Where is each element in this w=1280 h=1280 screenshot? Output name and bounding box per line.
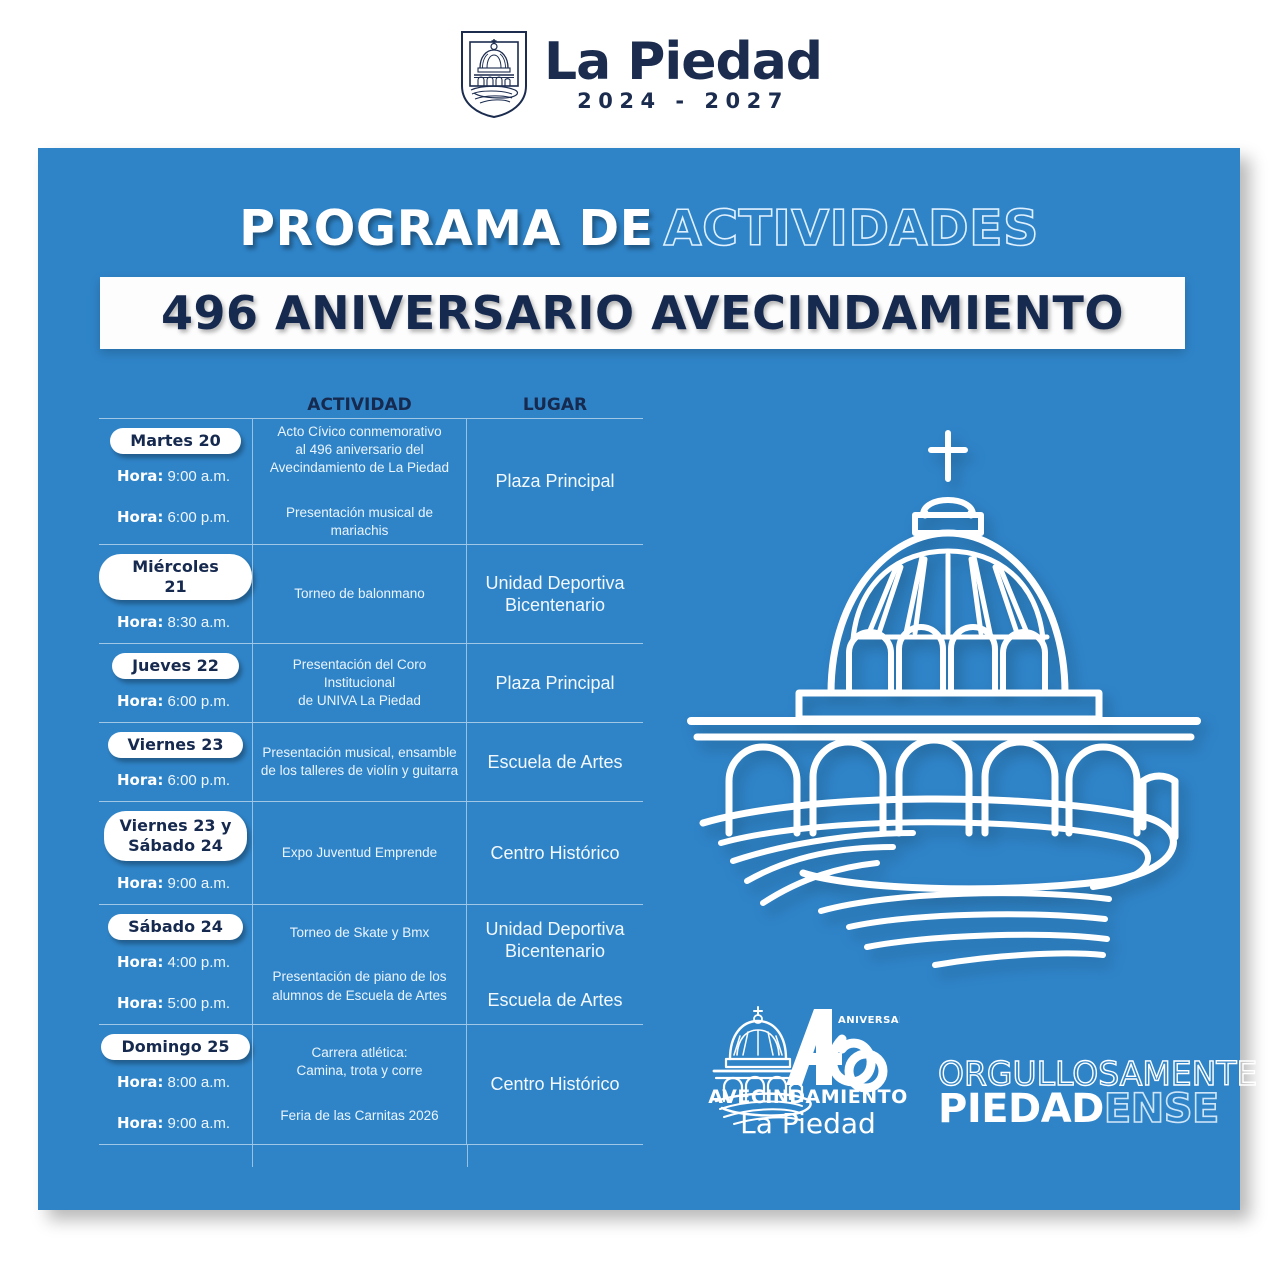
basilica-dome-bridge-icon [663,403,1223,1003]
place-text: Unidad Deportiva Bicentenario [471,572,639,617]
column-divider-1 [252,1145,253,1167]
time-value: Hora: 6:00 p.m. [117,771,252,789]
time-label: Hora: [117,692,163,710]
cell-day: Viernes 23Hora: 6:00 p.m. [99,723,252,801]
brand-text-block: La Piedad 2024 - 2027 [544,36,822,112]
table-column-tails [99,1145,643,1167]
cell-place: Plaza Principal [467,419,643,544]
activity-text: Presentación musical, ensamble de los ta… [259,744,460,780]
time-value: Hora: 9:00 a.m. [117,874,252,892]
cell-place: Centro Histórico [467,802,643,904]
cell-activity: Presentación musical, ensamble de los ta… [252,723,467,801]
table-row: Sábado 24Hora: 4:00 p.m.Hora: 5:00 p.m.T… [99,905,643,1024]
cell-day: Viernes 23 y Sábado 24Hora: 9:00 a.m. [99,802,252,904]
anniversary-caption-line1: AVECINDAMIENTO [688,1088,928,1108]
time-label: Hora: [117,874,163,892]
cell-day: Martes 20Hora: 9:00 a.m.Hora: 6:00 p.m. [99,419,252,544]
anniversary-banner: 496 ANIVERSARIO AVECINDAMIENTO [100,277,1185,349]
time-spacer [99,971,252,989]
anniversary-banner-text: 496 ANIVERSARIO AVECINDAMIENTO [161,286,1124,340]
time-value: Hora: 8:30 a.m. [117,613,252,631]
cell-day: Sábado 24Hora: 4:00 p.m.Hora: 5:00 p.m. [99,905,252,1024]
time-label: Hora: [117,1114,163,1132]
column-divider-2 [467,1145,468,1167]
cell-activity: Carrera atlética: Camina, trota y correF… [252,1025,467,1144]
anniversary-logo-caption: AVECINDAMIENTO La Piedad [688,1088,928,1138]
activity-text: Presentación del Coro Institucional de U… [259,656,460,711]
activity-text: Carrera atlética: Camina, trota y corre [259,1044,460,1080]
place-text: Unidad Deportiva Bicentenario [471,918,639,963]
time-label: Hora: [117,467,163,485]
cell-place: Unidad Deportiva BicentenarioEscuela de … [467,905,643,1024]
place-text: Centro Histórico [471,1073,639,1096]
slogan-line2-hollow: ENSE [1104,1086,1219,1132]
activity-text: Acto Cívico conmemorativo al 496 anivers… [259,423,460,478]
cell-activity: Torneo de balonmano [252,545,467,643]
cell-activity: Presentación del Coro Institucional de U… [252,644,467,722]
cell-place: Centro Histórico [467,1025,643,1144]
cell-day: Jueves 22Hora: 6:00 p.m. [99,644,252,722]
activity-text: Torneo de Skate y Bmx [259,924,460,942]
table-row: Viernes 23 y Sábado 24Hora: 9:00 a.m.Exp… [99,802,643,904]
la-piedad-shield-dome-icon [458,28,530,120]
time-spacer [99,485,252,503]
page-title: PROGRAMA DEACTIVIDADES [38,200,1240,257]
place-text: Plaza Principal [471,672,639,695]
schedule-table: ACTIVIDAD LUGAR Martes 20Hora: 9:00 a.m.… [99,385,643,1167]
time-label: Hora: [117,771,163,789]
cell-activity: Torneo de Skate y BmxPresentación de pia… [252,905,467,1024]
cell-day: Miércoles 21Hora: 8:30 a.m. [99,545,252,643]
time-label: Hora: [117,994,163,1012]
brand-lockup: La Piedad 2024 - 2027 [458,28,822,120]
time-value: Hora: 5:00 p.m. [117,994,252,1012]
table-row: Martes 20Hora: 9:00 a.m.Hora: 6:00 p.m.A… [99,419,643,544]
slogan-line2: PIEDADENSE [938,1090,1228,1128]
place-text: Centro Histórico [471,842,639,865]
table-header-row: ACTIVIDAD LUGAR [99,385,643,418]
day-badge: Miércoles 21 [99,554,252,600]
time-value: Hora: 6:00 p.m. [117,508,252,526]
page-title-solid: PROGRAMA DE [239,200,654,257]
activity-spacer [259,1081,460,1107]
table-row: Domingo 25Hora: 8:00 a.m.Hora: 9:00 a.m.… [99,1025,643,1144]
time-label: Hora: [117,613,163,631]
place-text: Escuela de Artes [471,989,639,1012]
activity-text: Torneo de balonmano [259,585,460,603]
day-badge: Sábado 24 [108,914,243,940]
activity-text: Presentación musical de mariachis [259,504,460,540]
day-badge: Martes 20 [110,428,240,454]
slogan-line2-solid: PIEDAD [938,1086,1104,1132]
cell-place: Escuela de Artes [467,723,643,801]
time-label: Hora: [117,508,163,526]
table-row: Jueves 22Hora: 6:00 p.m.Presentación del… [99,644,643,722]
time-label: Hora: [117,953,163,971]
cell-day: Domingo 25Hora: 8:00 a.m.Hora: 9:00 a.m. [99,1025,252,1144]
time-value: Hora: 9:00 a.m. [117,467,252,485]
place-text: Plaza Principal [471,470,639,493]
slogan-block: ORGULLOSAMENTE PIEDADENSE [938,1058,1228,1128]
table-row: Miércoles 21Hora: 8:30 a.m.Torneo de bal… [99,545,643,643]
day-badge: Domingo 25 [101,1034,249,1060]
time-value: Hora: 4:00 p.m. [117,953,252,971]
activity-spacer [259,478,460,504]
activity-text: Presentación de piano de los alumnos de … [259,968,460,1004]
time-value: Hora: 9:00 a.m. [117,1114,252,1132]
cell-activity: Acto Cívico conmemorativo al 496 anivers… [252,419,467,544]
table-header-activity: ACTIVIDAD [252,395,467,415]
time-value: Hora: 8:00 a.m. [117,1073,252,1091]
time-value: Hora: 6:00 p.m. [117,692,252,710]
activity-text: Expo Juventud Emprende [259,844,460,862]
cell-place: Plaza Principal [467,644,643,722]
activity-spacer [259,942,460,968]
cell-activity: Expo Juventud Emprende [252,802,467,904]
time-label: Hora: [117,1073,163,1091]
activity-text: Feria de las Carnitas 2026 [259,1107,460,1125]
day-badge: Viernes 23 y Sábado 24 [104,811,248,861]
place-spacer [471,963,639,989]
brand-years: 2024 - 2027 [544,91,822,112]
cell-place: Unidad Deportiva Bicentenario [467,545,643,643]
page-title-outline: ACTIVIDADES [664,200,1039,257]
day-badge: Viernes 23 [108,732,244,758]
anniversary-caption-line2: La Piedad [688,1109,928,1138]
brand-header: La Piedad 2024 - 2027 [0,0,1280,148]
poster-card: PROGRAMA DEACTIVIDADES 496 ANIVERSARIO A… [38,148,1240,1210]
place-text: Escuela de Artes [471,751,639,774]
table-row: Viernes 23Hora: 6:00 p.m.Presentación mu… [99,723,643,801]
day-badge: Jueves 22 [112,653,239,679]
svg-text:ANIVERSARIO: ANIVERSARIO [838,1015,900,1026]
brand-name: La Piedad [544,36,822,88]
table-header-place: LUGAR [467,395,643,415]
time-spacer [99,1091,252,1109]
